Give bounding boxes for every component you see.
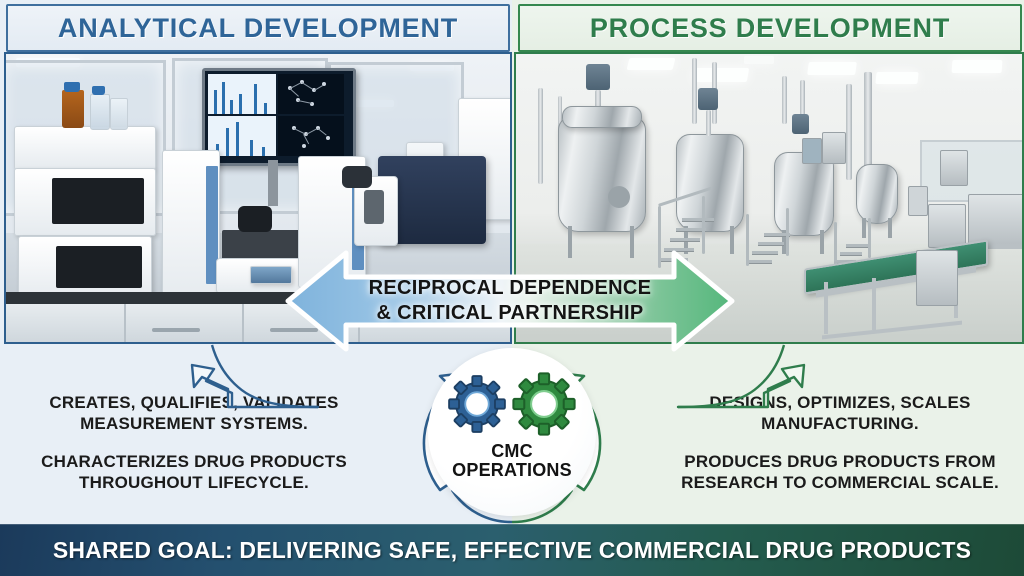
process-description-p2: PRODUCES DRUG PRODUCTS FROM RESEARCH TO … xyxy=(660,451,1020,493)
gear-icon-blue xyxy=(446,373,508,435)
cmc-title-line1: CMC xyxy=(452,442,572,461)
cmc-title-line2: OPERATIONS xyxy=(452,461,572,480)
reciprocal-dependence-arrow: RECIPROCAL DEPENDENCE & CRITICAL PARTNER… xyxy=(284,247,736,355)
process-development-header: PROCESS DEVELOPMENT xyxy=(518,4,1022,52)
lab-monitor xyxy=(202,68,356,166)
process-feedback-arrow xyxy=(676,285,826,415)
analytical-feedback-arrow xyxy=(170,285,320,415)
infographic-canvas: ANALYTICAL DEVELOPMENT PROCESS DEVELOPME… xyxy=(0,0,1024,576)
shared-goal-text: SHARED GOAL: DELIVERING SAFE, EFFECTIVE … xyxy=(53,537,971,564)
analytical-description-p2: CHARACTERIZES DRUG PRODUCTS THROUGHOUT L… xyxy=(14,451,374,493)
analytical-development-header: ANALYTICAL DEVELOPMENT xyxy=(6,4,510,52)
analytical-development-title: ANALYTICAL DEVELOPMENT xyxy=(58,13,458,44)
cmc-operations-hub: CMC OPERATIONS xyxy=(404,340,620,536)
gear-icon-green xyxy=(510,370,578,438)
process-development-title: PROCESS DEVELOPMENT xyxy=(590,13,950,44)
